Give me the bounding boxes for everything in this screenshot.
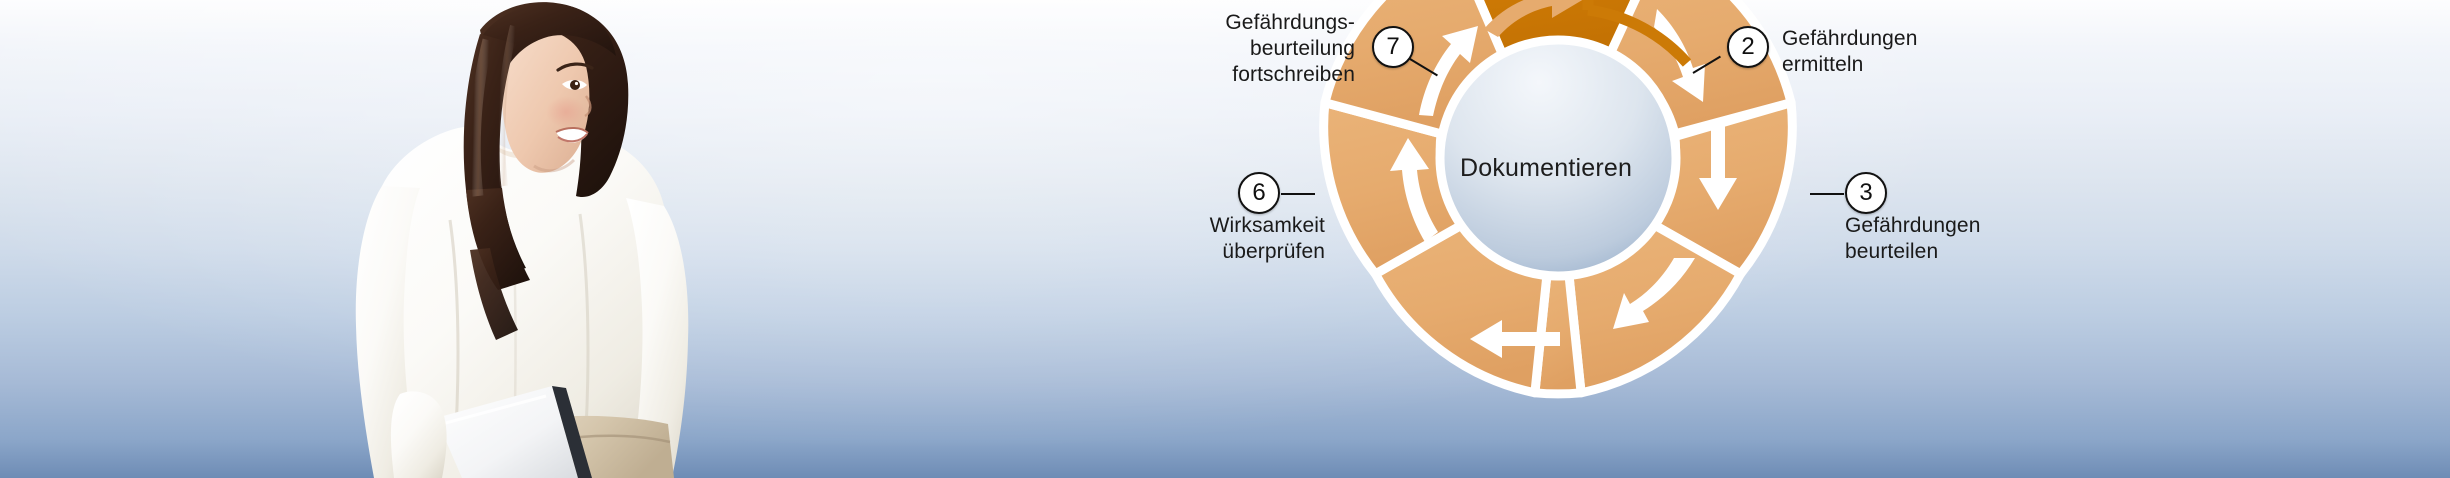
wheel-label-3: Gefährdungen beurteilen <box>1845 213 2125 265</box>
wheel-badge-6[interactable]: 6 <box>1238 172 1280 214</box>
wheel-badge-3[interactable]: 3 <box>1845 172 1887 214</box>
wheel-badge-7[interactable]: 7 <box>1372 26 1414 68</box>
wheel-label-6: Wirksamkeit überprüfen <box>1060 213 1325 265</box>
wheel-badge-2[interactable]: 2 <box>1727 26 1769 68</box>
leader-line-6 <box>1281 193 1315 195</box>
wheel-label-2: Gefährdungen ermitteln <box>1782 26 2062 78</box>
wheel-label-7: Gefährdungs- beurteilung fortschreiben <box>1090 10 1355 88</box>
wheel-center-label: Dokumentieren <box>1460 154 1632 183</box>
leader-line-3 <box>1810 193 1844 195</box>
hero-banner: Dokumentieren Gefährdungs- beurteilung f… <box>0 0 2450 478</box>
pointing-woman-photo <box>330 0 750 478</box>
